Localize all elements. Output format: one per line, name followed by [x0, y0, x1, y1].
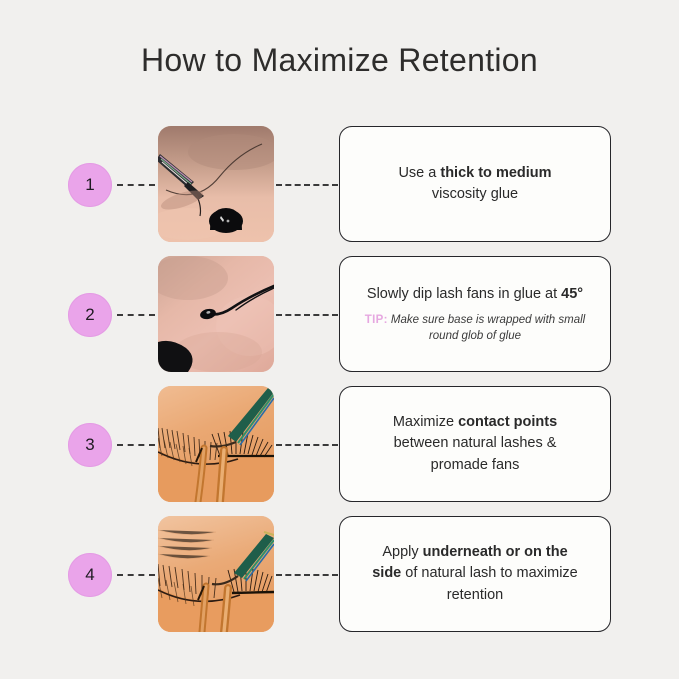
steps-list: 1 — [0, 122, 679, 642]
step-row-3: 3 — [0, 382, 679, 512]
step-number-badge-1: 1 — [68, 163, 112, 207]
step-image-3 — [158, 386, 274, 502]
connector-dash-right-1 — [276, 184, 338, 186]
connector-dash-right-2 — [276, 314, 338, 316]
step-card-1: Use a thick to mediumviscosity glue — [339, 126, 611, 242]
tip-label-2: TIP: — [365, 314, 388, 326]
lash-fan-dipped-in-glue-illustration — [158, 256, 274, 372]
tweezers-holding-lash-with-glue-drop-illustration — [158, 126, 274, 242]
connector-dash-left-2 — [117, 314, 155, 316]
step-card-3: Maximize contact pointsbetween natural l… — [339, 386, 611, 502]
connector-dash-left-3 — [117, 444, 155, 446]
lash-applied-underneath-illustration — [158, 516, 274, 632]
step-card-4: Apply underneath or on theside of natura… — [339, 516, 611, 632]
page-title: How to Maximize Retention — [0, 42, 679, 79]
connector-dash-right-4 — [276, 574, 338, 576]
step-text-1: Use a thick to mediumviscosity glue — [398, 163, 551, 205]
connector-dash-left-1 — [117, 184, 155, 186]
step-tip-2: TIP: Make sure base is wrapped with smal… — [356, 312, 594, 344]
connector-dash-left-4 — [117, 574, 155, 576]
step-number-1: 1 — [68, 163, 112, 207]
step-text-2: Slowly dip lash fans in glue at 45° — [367, 284, 583, 305]
step-card-2: Slowly dip lash fans in glue at 45° TIP:… — [339, 256, 611, 372]
step-number-badge-2: 2 — [68, 293, 112, 337]
step-text-3: Maximize contact pointsbetween natural l… — [393, 412, 557, 475]
tip-text-2: Make sure base is wrapped with small rou… — [391, 314, 585, 342]
step-number-badge-3: 3 — [68, 423, 112, 467]
step-row-1: 1 — [0, 122, 679, 252]
step-image-4 — [158, 516, 274, 632]
infographic-page: How to Maximize Retention 1 — [0, 0, 679, 679]
step-number-4: 4 — [68, 553, 112, 597]
step-image-2 — [158, 256, 274, 372]
step-number-2: 2 — [68, 293, 112, 337]
connector-dash-right-3 — [276, 444, 338, 446]
step-row-4: 4 — [0, 512, 679, 642]
step-text-4: Apply underneath or on theside of natura… — [372, 542, 578, 605]
step-row-2: 2 — [0, 252, 679, 382]
step-number-3: 3 — [68, 423, 112, 467]
step-image-1 — [158, 126, 274, 242]
lash-contact-points-illustration — [158, 386, 274, 502]
step-number-badge-4: 4 — [68, 553, 112, 597]
